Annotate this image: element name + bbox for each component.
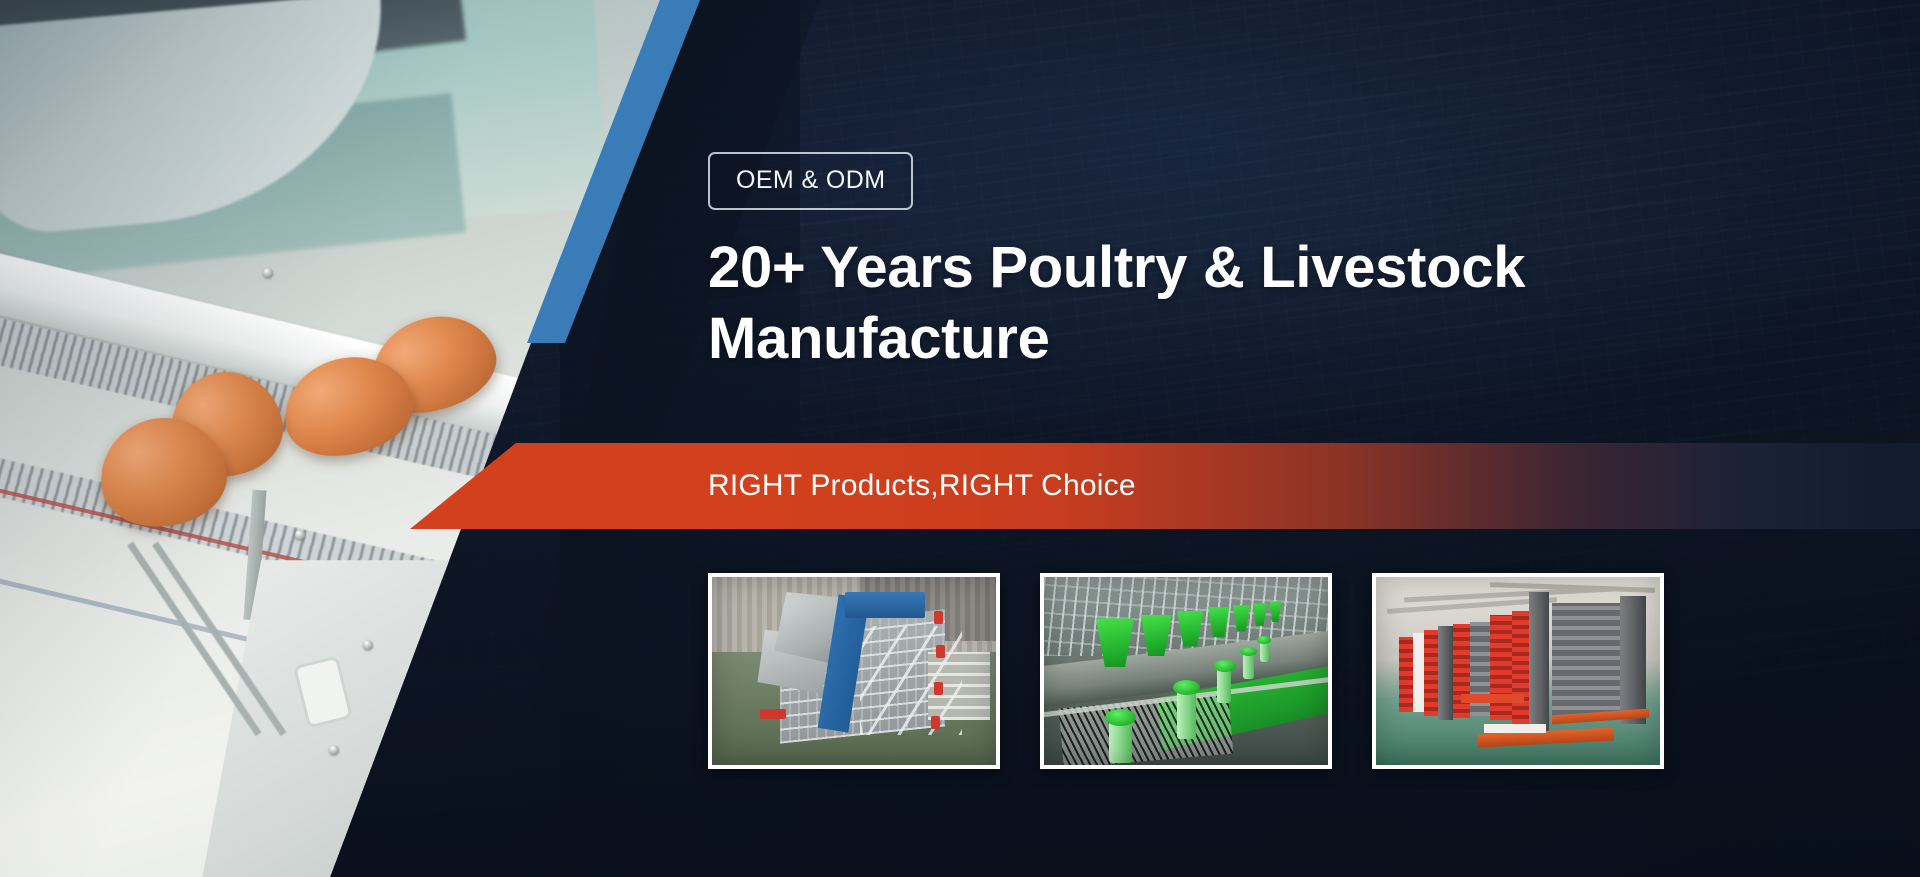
page-title: 20+ Years Poultry & Livestock Manufactur… (708, 232, 1818, 375)
oem-odm-badge: OEM & ODM (708, 152, 913, 210)
thumbnail-1[interactable] (708, 573, 1000, 769)
thumbnail-gallery (708, 573, 1664, 769)
thumbnail-3[interactable] (1372, 573, 1664, 769)
hero-banner: RIGHT Products,RIGHT Choice OEM & ODM 20… (0, 0, 1920, 877)
hero-content: OEM & ODM 20+ Years Poultry & Livestock … (708, 0, 1868, 877)
thumbnail-2[interactable] (1040, 573, 1332, 769)
